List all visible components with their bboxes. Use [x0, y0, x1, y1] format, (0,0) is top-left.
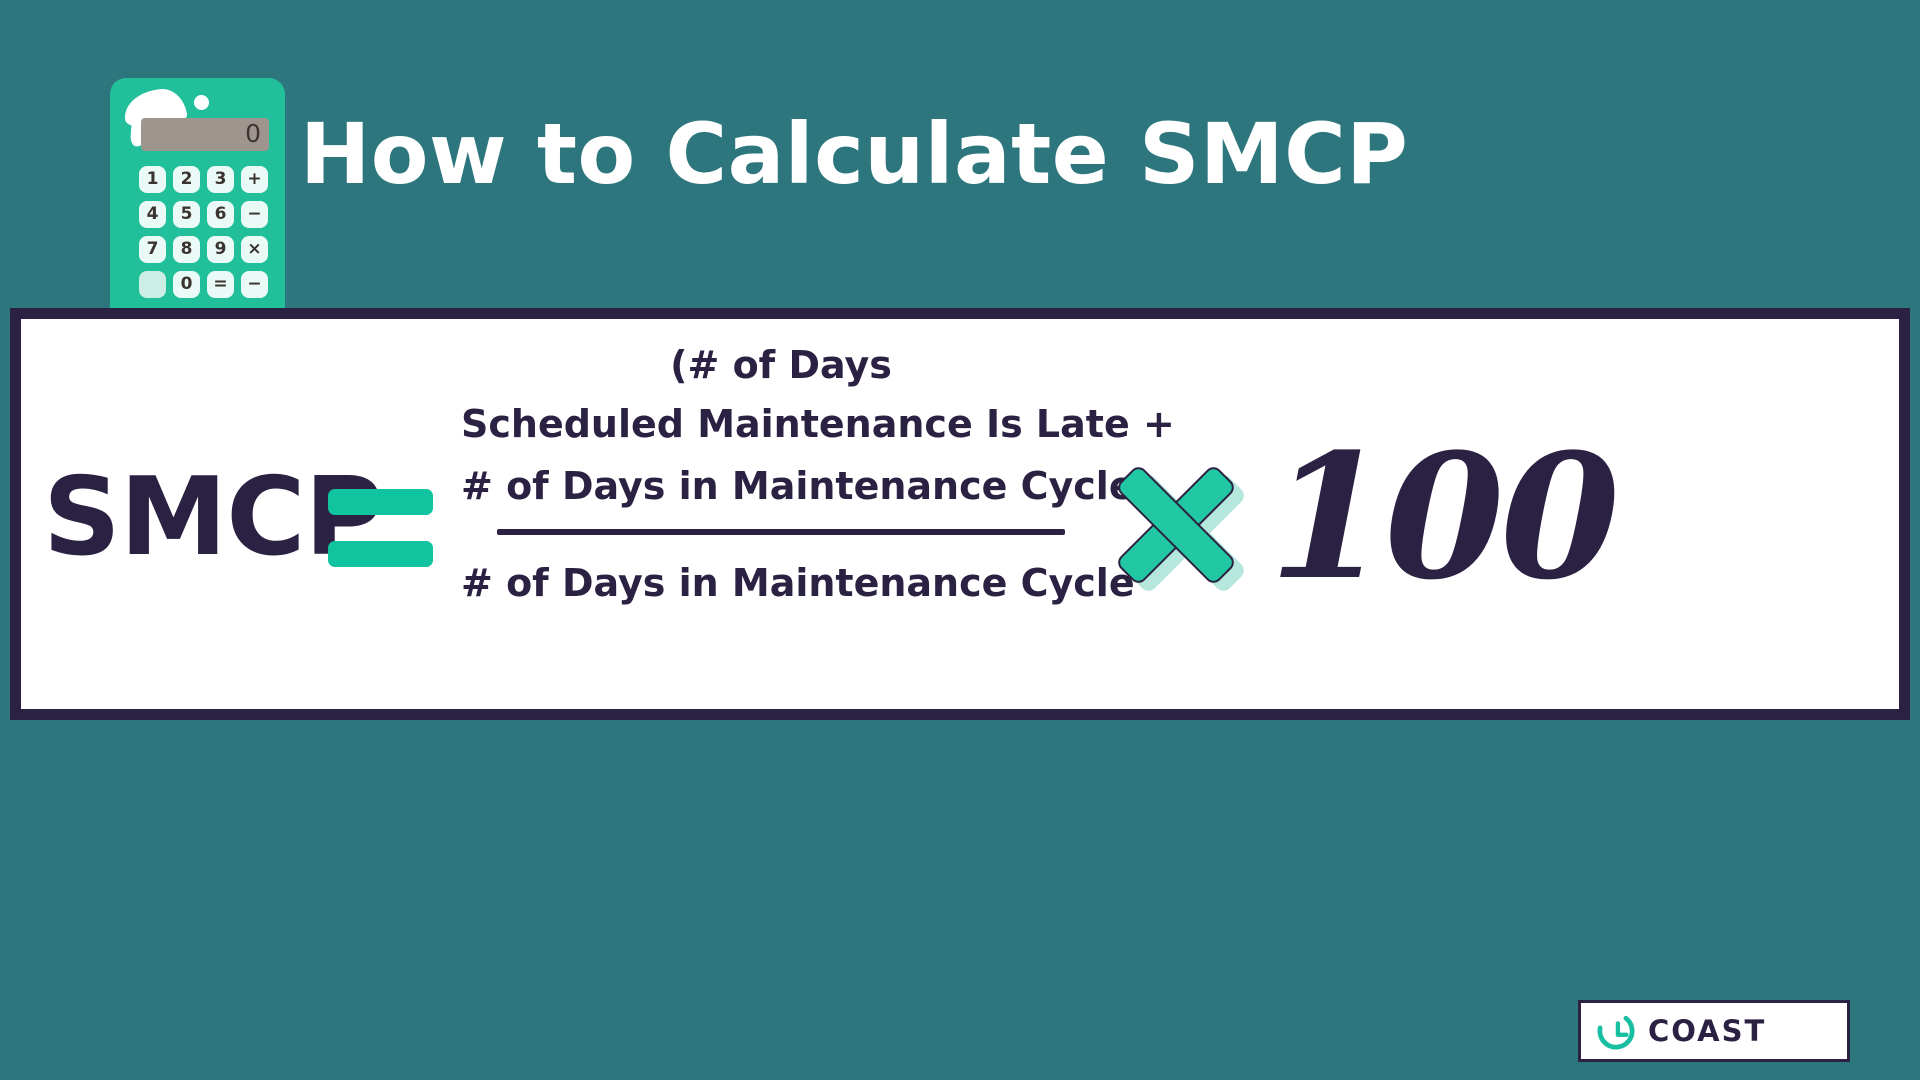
denominator-line: # of Days in Maintenance Cycle — [461, 535, 1101, 631]
equals-sign-icon — [328, 489, 433, 567]
calculator-key: 6 — [207, 201, 234, 228]
page-title: How to Calculate SMCP — [300, 110, 1400, 198]
coast-c-mark-icon — [1597, 1012, 1635, 1050]
calculator-key: + — [241, 166, 268, 193]
infographic-canvas: 0 1 2 3 + 4 5 6 − 7 8 9 × 0 = − How to C… — [0, 0, 1920, 1080]
calculator-key: 3 — [207, 166, 234, 193]
calculator-key: 2 — [173, 166, 200, 193]
calculator-key: 5 — [173, 201, 200, 228]
calculator-key: − — [241, 201, 268, 228]
calculator-keypad: 1 2 3 + 4 5 6 − 7 8 9 × 0 = − — [139, 166, 272, 298]
equals-bar-top — [328, 489, 433, 515]
formula-card: SMCP (# of Days Scheduled Maintenance Is… — [10, 308, 1910, 720]
calculator-key: = — [207, 271, 234, 298]
coast-wordmark: COAST — [1648, 1014, 1766, 1048]
calculator-key: 1 — [139, 166, 166, 193]
calculator-key: 0 — [173, 271, 200, 298]
calculator-key: − — [241, 271, 268, 298]
numerator-line-1: (# of Days — [461, 337, 1101, 393]
calculator-display: 0 — [141, 118, 269, 151]
calculator-key: 7 — [139, 236, 166, 263]
calculator-key: 4 — [139, 201, 166, 228]
multiply-x-icon — [1111, 457, 1246, 592]
equals-bar-bottom — [328, 541, 433, 567]
calculator-key — [139, 271, 166, 298]
formula-fraction: (# of Days Scheduled Maintenance Is Late… — [461, 337, 1101, 631]
coast-logo: COAST — [1578, 1000, 1850, 1062]
formula-multiplier: 100 — [1269, 431, 1616, 603]
calculator-indicator-dot-icon — [194, 95, 209, 110]
numerator-line-3: # of Days in Maintenance Cycle) — [461, 455, 1101, 517]
calculator-key: 8 — [173, 236, 200, 263]
calculator-key: 9 — [207, 236, 234, 263]
numerator-line-2: Scheduled Maintenance Is Late + — [461, 393, 1101, 455]
calculator-key: × — [241, 236, 268, 263]
